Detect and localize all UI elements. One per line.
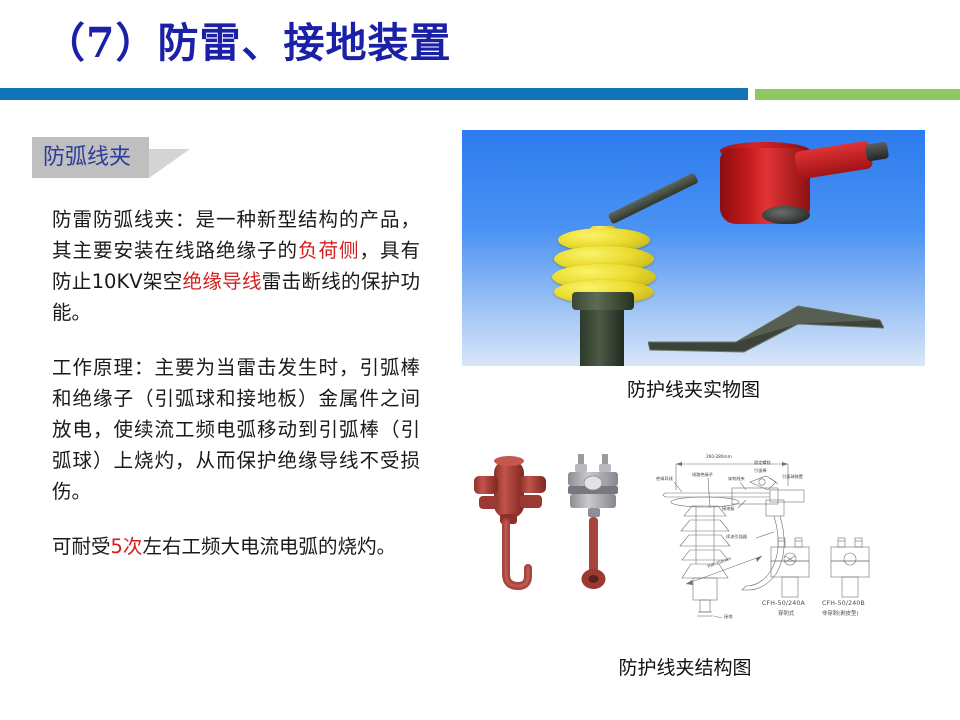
body-text-block: 防雷防弧线夹：是一种新型结构的产品，其主要安装在线路绝缘子的负荷侧，具有防止10…	[52, 204, 420, 562]
diagram-label-line-insulator: 线路绝缘子	[692, 472, 713, 478]
diagram-clamp-piercing	[568, 454, 618, 589]
diagram-label-fixing-bolt: 固定螺栓	[754, 460, 771, 466]
diagram-figure: 260-280mm 700-750mm 绝缘导线 线路绝缘子 穿刺线夹 接地板 …	[470, 446, 900, 682]
divider-gap	[748, 88, 755, 100]
body-paragraph: 工作原理：主要为当雷击发生时，引弧棒和绝缘子（引弧球和接地板）金属件之间放电，使…	[52, 352, 420, 507]
body-highlight-run: 5次	[111, 535, 143, 558]
diagram-model-1-name: CFH-50/240B	[822, 600, 865, 607]
section-badge-ribbon-tail	[149, 149, 190, 178]
photo-device-bolt	[762, 206, 810, 224]
section-badge: 防弧线夹	[32, 137, 190, 181]
diagram-model-views	[771, 538, 869, 597]
diagram-label-follow-current-arc-device: 续流引弧器	[726, 534, 747, 540]
body-text-run: 工作原理：主要为当雷击发生时，引弧棒和绝缘子（引弧球和接地板）金属件之间放电，使…	[52, 356, 420, 503]
diagram-label-arc-ball-device: 引弧球装置	[782, 474, 803, 480]
photo-figure: 防护线夹实物图	[462, 130, 925, 404]
body-highlight-run: 负荷侧	[298, 239, 360, 262]
body-text-run: 左右工频大电流电弧的烧灼。	[142, 535, 396, 558]
title-block: （7）防雷、接地装置	[0, 0, 960, 100]
body-paragraph: 防雷防弧线夹：是一种新型结构的产品，其主要安装在线路绝缘子的负荷侧，具有防止10…	[52, 204, 420, 328]
structure-diagram: 260-280mm 700-750mm 绝缘导线 线路绝缘子 穿刺线夹 接地板 …	[470, 446, 900, 636]
body-highlight-run: 绝缘导线	[183, 270, 262, 293]
diagram-dimension-0: 260-280mm	[706, 454, 732, 459]
diagram-label-arc-rod: 引弧棒	[754, 468, 767, 474]
photo-ground-blade	[648, 298, 884, 354]
diagram-model-0-name: CFH-50/240A	[762, 600, 805, 607]
photo-caption: 防护线夹实物图	[462, 376, 925, 404]
diagram-clamp-red	[474, 456, 546, 586]
diagram-assembly	[663, 462, 804, 618]
diagram-label-piercing-clamp: 穿刺线夹	[728, 476, 745, 482]
structure-diagram-svg	[470, 446, 900, 636]
body-paragraph: 可耐受5次左右工频大电流电弧的烧灼。	[52, 531, 420, 562]
body-text-run: 可耐受	[52, 535, 111, 558]
photo-arc-rod	[608, 172, 699, 224]
diagram-model-0-sub: 穿刺式	[778, 609, 794, 617]
title-divider	[0, 88, 960, 100]
page-title: （7）防雷、接地装置	[44, 14, 452, 72]
slide-canvas: （7）防雷、接地装置 防弧线夹 防雷防弧线夹：是一种新型结构的产品，其主要安装在…	[0, 0, 960, 720]
diagram-label-ground-plate: 接地板	[722, 506, 735, 512]
diagram-caption: 防护线夹结构图	[470, 654, 900, 682]
photo-device-nose-cap	[865, 141, 889, 161]
diagram-label-insulated-conductor: 绝缘导线	[656, 476, 673, 482]
product-photo	[462, 130, 925, 366]
divider-green-segment	[755, 89, 960, 100]
diagram-label-ground: 接地	[724, 614, 732, 620]
photo-insulator-collar	[572, 292, 634, 310]
diagram-model-1-sub: 非穿刺(剥皮型)	[822, 609, 859, 617]
section-badge-label: 防弧线夹	[43, 143, 131, 173]
divider-blue-segment	[0, 88, 748, 100]
